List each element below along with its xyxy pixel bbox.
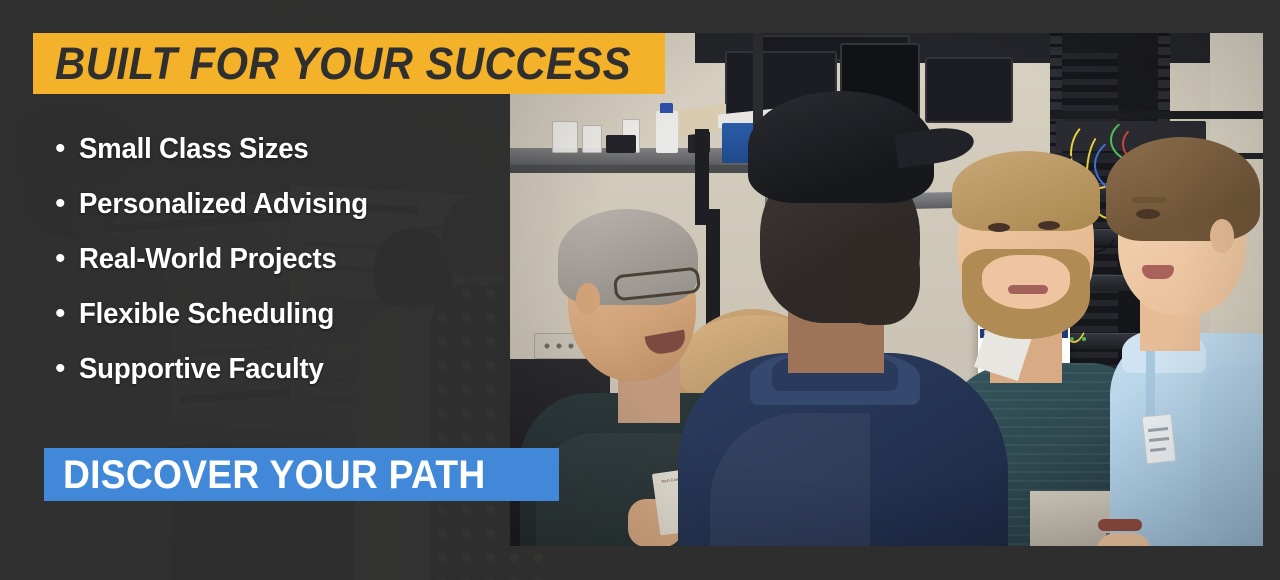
- bullet-dot-icon: •: [55, 244, 79, 274]
- list-item: • Supportive Faculty: [55, 354, 495, 409]
- list-item: • Personalized Advising: [55, 189, 495, 244]
- bullet-label: Small Class Sizes: [79, 135, 309, 164]
- bullet-label: Personalized Advising: [79, 190, 368, 219]
- bullet-label: Flexible Scheduling: [79, 300, 334, 329]
- promotional-banner: BUILT FOR YOUR SUCCESS • Small Class Siz…: [0, 0, 1280, 580]
- feature-bullet-list: • Small Class Sizes • Personalized Advis…: [55, 134, 495, 409]
- bullet-dot-icon: •: [55, 354, 79, 384]
- cta-banner[interactable]: DISCOVER YOUR PATH: [44, 448, 559, 501]
- list-item: • Real-World Projects: [55, 244, 495, 299]
- headline-text: BUILT FOR YOUR SUCCESS: [55, 41, 631, 86]
- headline-banner: BUILT FOR YOUR SUCCESS: [33, 33, 665, 94]
- list-item: • Small Class Sizes: [55, 134, 495, 189]
- bullet-label: Supportive Faculty: [79, 355, 324, 384]
- cta-text: DISCOVER YOUR PATH: [63, 455, 486, 495]
- bullet-dot-icon: •: [55, 189, 79, 219]
- bullet-label: Real-World Projects: [79, 245, 337, 274]
- list-item: • Flexible Scheduling: [55, 299, 495, 354]
- bullet-dot-icon: •: [55, 299, 79, 329]
- monitor-icon: [925, 57, 1013, 123]
- name-tag: [1142, 414, 1177, 465]
- bullet-dot-icon: •: [55, 134, 79, 164]
- lab-photo: NEW RIVER Community College Division of …: [510, 33, 1263, 546]
